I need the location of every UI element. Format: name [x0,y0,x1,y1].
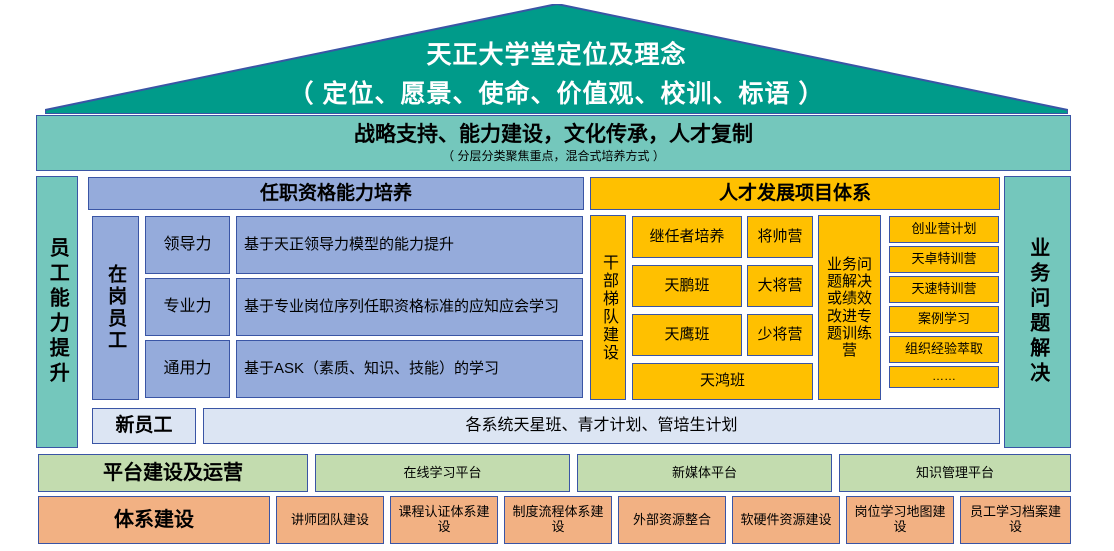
platform-item-online-learning-label: 在线学习平台 [400,466,484,481]
system-item-course-certification-label: 课程认证体系建设 [391,505,497,534]
on-job-employee-text: 在岗员工 [102,264,129,352]
description-leadership-text: 基于天正领导力模型的能力提升 [237,237,457,254]
business-problem-camp: 业务问题解决或绩效改进专题训练营 [818,215,881,400]
extra-case-study-label: 案例学习 [915,312,973,327]
platform-item-new-media-label: 新媒体平台 [669,466,740,481]
pillar-business-problem: 业务问题解决 [1004,176,1071,448]
system-item-employee-records-label: 员工学习档案建设 [961,505,1070,534]
system-item-hardware-software-label: 软硬件资源建设 [737,513,834,528]
extra-tiansu-camp: 天速特训营 [889,276,999,303]
strategy-main-text: 战略支持、能力建设，文化传承，人才复制 [354,123,753,147]
business-problem-camp-label: 业务问题解决或绩效改进专题训练营 [819,256,880,360]
strategy-sub-text: （ 分层分类聚焦重点，混合式培养方式 ） [442,150,665,163]
platform-item-knowledge-mgmt: 知识管理平台 [839,454,1071,492]
program-tianhong-label: 天鸿班 [697,373,748,390]
pillar-employee-capability: 员工能力提升 [36,176,78,448]
qualification-header-label: 任职资格能力培养 [257,183,415,204]
program-tianpeng-label: 天鹏班 [661,278,712,295]
talent-header: 人才发展项目体系 [590,177,1000,210]
pillar-left-label: 员工能力提升 [43,237,71,387]
system-label-text: 体系建设 [111,509,197,531]
extra-experience-extraction-label: 组织经验萃取 [902,342,986,357]
system-item-external-resources-label: 外部资源整合 [630,513,714,528]
system-item-course-certification: 课程认证体系建设 [390,496,498,544]
capability-leadership-label: 领导力 [160,236,214,254]
system-item-process-system: 制度流程体系建设 [504,496,612,544]
new-employee-label: 新员工 [92,408,196,444]
program-general-camp: 将帅营 [747,216,813,258]
description-general: 基于ASK（素质、知识、技能）的学习 [236,340,583,398]
program-successor-label: 继任者培养 [646,229,727,246]
description-professional-text: 基于专业岗位序列任职资格标准的应知应会学习 [237,299,562,316]
system-item-trainer-team-label: 讲师团队建设 [288,513,372,528]
system-item-job-learning-map: 岗位学习地图建设 [846,496,954,544]
pillar-right-label: 业务问题解决 [1023,237,1051,387]
program-major-camp-label: 大将营 [754,278,805,295]
system-label: 体系建设 [38,496,270,544]
platform-item-knowledge-mgmt-label: 知识管理平台 [913,466,997,481]
system-item-employee-records: 员工学习档案建设 [960,496,1071,544]
capability-general-label: 通用力 [160,360,214,378]
capability-general: 通用力 [145,340,230,398]
new-employee-programs-text: 各系统天星班、青才计划、管培生计划 [462,417,740,435]
extra-ellipsis-label: …… [929,370,959,383]
program-major-camp: 大将营 [747,265,813,307]
extra-tianzhuo-camp: 天卓特训营 [889,246,999,273]
extra-startup-camp-label: 创业营计划 [908,222,979,237]
description-general-text: 基于ASK（素质、知识、技能）的学习 [237,361,502,378]
system-item-trainer-team: 讲师团队建设 [276,496,384,544]
program-minor-camp: 少将营 [747,314,813,356]
platform-label: 平台建设及运营 [38,454,308,492]
cadre-echelon-text: 干部梯队建设 [596,254,620,362]
program-tianying-label: 天鹰班 [661,327,712,344]
capability-professional-label: 专业力 [160,298,214,316]
platform-item-online-learning: 在线学习平台 [315,454,570,492]
new-employee-programs: 各系统天星班、青才计划、管培生计划 [203,408,1000,444]
roof-shape [45,4,1068,114]
extra-ellipsis: …… [889,366,999,388]
system-item-process-system-label: 制度流程体系建设 [505,505,611,534]
qualification-header: 任职资格能力培养 [88,177,584,210]
program-tianhong: 天鸿班 [632,363,813,400]
strategy-band: 战略支持、能力建设，文化传承，人才复制 （ 分层分类聚焦重点，混合式培养方式 ） [36,115,1071,171]
platform-item-new-media: 新媒体平台 [577,454,832,492]
extra-case-study: 案例学习 [889,306,999,333]
extra-tiansu-camp-label: 天速特训营 [908,282,979,297]
description-professional: 基于专业岗位序列任职资格标准的应知应会学习 [236,278,583,336]
new-employee-label-text: 新员工 [112,415,175,436]
system-item-hardware-software: 软硬件资源建设 [732,496,840,544]
talent-header-label: 人才发展项目体系 [716,183,874,204]
description-leadership: 基于天正领导力模型的能力提升 [236,216,583,274]
extra-startup-camp: 创业营计划 [889,216,999,243]
program-minor-camp-label: 少将营 [754,327,805,344]
on-job-employee-label: 在岗员工 [92,216,139,400]
system-item-external-resources: 外部资源整合 [618,496,726,544]
cadre-echelon-label: 干部梯队建设 [590,215,626,400]
program-successor: 继任者培养 [632,216,742,258]
capability-professional: 专业力 [145,278,230,336]
extra-experience-extraction: 组织经验萃取 [889,336,999,363]
program-general-camp-label: 将帅营 [754,229,805,246]
platform-label-text: 平台建设及运营 [100,462,246,484]
system-item-job-learning-map-label: 岗位学习地图建设 [847,505,953,534]
capability-leadership: 领导力 [145,216,230,274]
program-tianpeng: 天鹏班 [632,265,742,307]
program-tianying: 天鹰班 [632,314,742,356]
extra-tianzhuo-camp-label: 天卓特训营 [908,252,979,267]
house-framework-diagram: 天正大学堂定位及理念 （ 定位、愿景、使命、价值观、校训、标语 ） 战略支持、能… [0,0,1114,551]
